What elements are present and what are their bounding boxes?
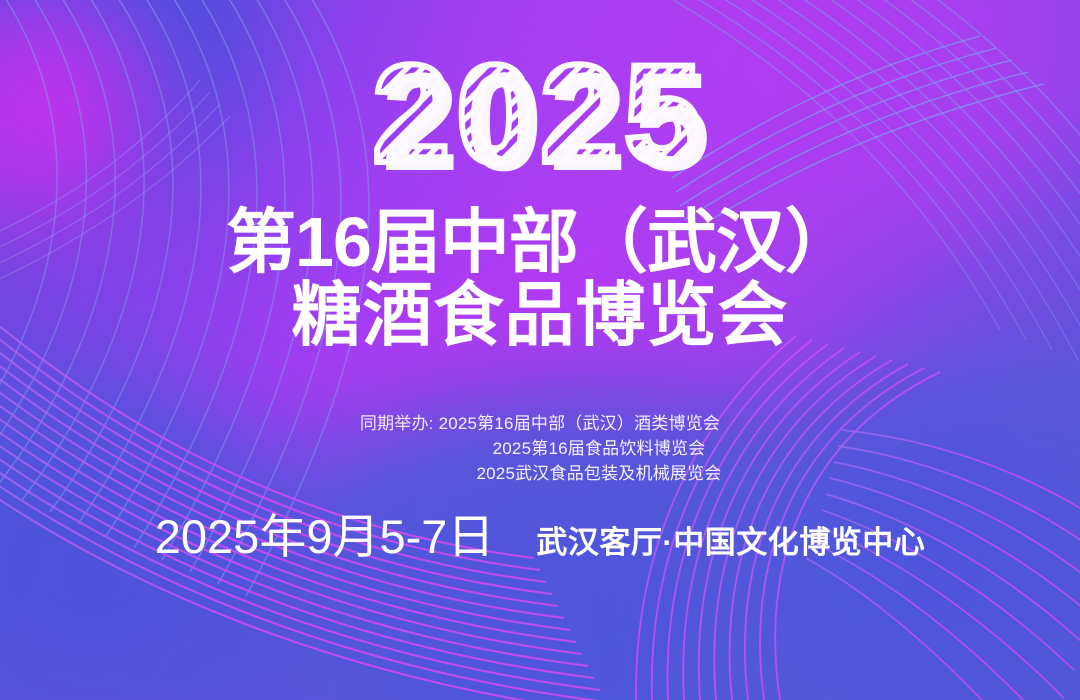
concurrent-row-3: 2025武汉食品包装及机械展览会 bbox=[0, 461, 1080, 486]
event-date: 2025年9月5-7日 bbox=[155, 511, 495, 563]
title-line-1: 第16届中部（武汉） bbox=[0, 206, 1080, 279]
event-poster: 2025 2025 第16届中部（武汉） 糖酒食品博览会 同期举办: 2025第… bbox=[0, 0, 1080, 700]
concurrent-events-block: 同期举办: 2025第16届中部（武汉）酒类博览会 2025第16届食品饮料博览… bbox=[0, 411, 1080, 486]
concurrent-event-1: 2025第16届中部（武汉）酒类博览会 bbox=[439, 414, 721, 433]
date-venue-row: 2025年9月5-7日 武汉客厅·中国文化博览中心 bbox=[0, 511, 1080, 569]
poster-title: 第16届中部（武汉） 糖酒食品博览会 bbox=[0, 206, 1080, 352]
title-line-2: 糖酒食品博览会 bbox=[0, 279, 1080, 352]
concurrent-label: 同期举办: bbox=[360, 414, 434, 433]
concurrent-event-2: 2025第16届食品饮料博览会 bbox=[493, 439, 706, 458]
year-headline: 2025 2025 bbox=[0, 42, 1080, 192]
event-venue: 武汉客厅·中国文化博览中心 bbox=[536, 517, 925, 569]
year-face: 2025 bbox=[372, 35, 707, 192]
concurrent-row-2: 2025第16届食品饮料博览会 bbox=[0, 436, 1080, 461]
concurrent-row-1: 同期举办: 2025第16届中部（武汉）酒类博览会 bbox=[0, 411, 1080, 436]
poster-content: 2025 2025 第16届中部（武汉） 糖酒食品博览会 同期举办: 2025第… bbox=[0, 0, 1080, 700]
concurrent-event-3: 2025武汉食品包装及机械展览会 bbox=[476, 464, 721, 483]
